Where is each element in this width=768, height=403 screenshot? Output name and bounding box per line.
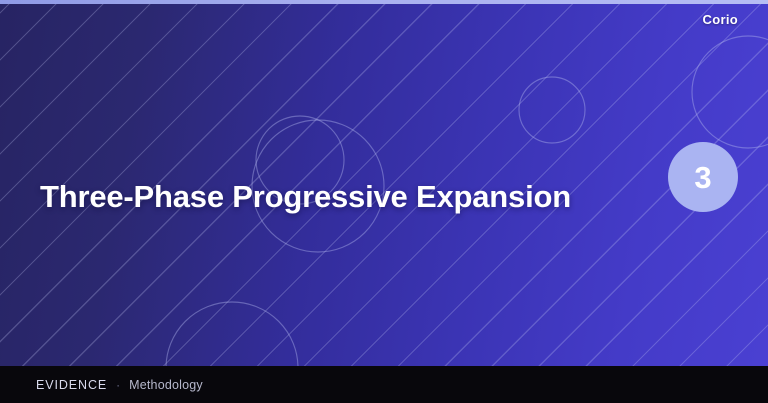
section-number-badge: 3 — [668, 142, 738, 212]
brand-logo: Corio — [703, 12, 738, 27]
section-number-label: 3 — [694, 162, 711, 193]
top-accent-bar — [0, 0, 768, 4]
footer-eyebrow-label: EVIDENCE — [36, 378, 107, 392]
ring-circle-bottom-left — [166, 302, 298, 366]
slide-title: Three-Phase Progressive Expansion — [40, 179, 640, 215]
ring-circle-top-right — [692, 36, 768, 148]
ring-circle-small-upper — [519, 77, 585, 143]
footer-separator-dot: · — [116, 378, 120, 392]
slide-root: Corio Three-Phase Progressive Expansion … — [0, 0, 768, 403]
footer-section-label: Methodology — [129, 378, 203, 392]
slide-footer: EVIDENCE · Methodology — [0, 366, 768, 403]
footer-breadcrumb: EVIDENCE · Methodology — [36, 378, 203, 392]
